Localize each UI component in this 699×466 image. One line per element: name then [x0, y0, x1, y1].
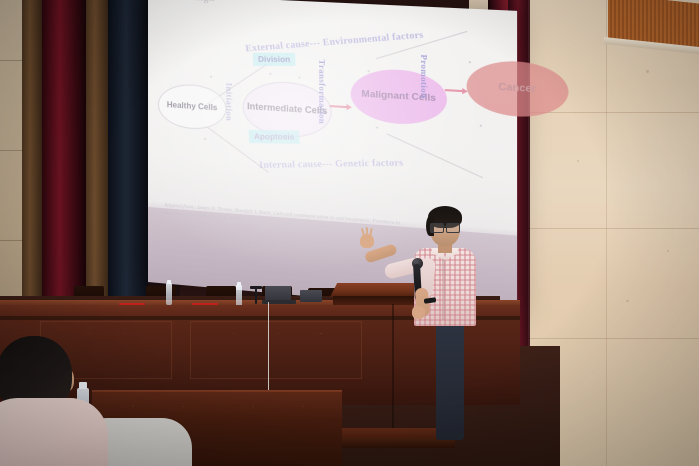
arrow-promotion	[445, 89, 467, 92]
arrow-transformation	[330, 105, 351, 108]
connector-line-br	[387, 133, 484, 178]
transition-transformation-label: Transformation	[317, 59, 327, 124]
internal-cause-label: Internal cause--- Genetic factors	[259, 158, 404, 171]
node-cancer-label: Cancer	[498, 82, 536, 96]
node-healthy-cells: Healthy Cells	[158, 83, 226, 132]
bottle-1	[166, 283, 172, 305]
transition-promotion-label: Promotion	[419, 54, 430, 99]
speaker-hand-gesturing	[360, 234, 374, 248]
speaker-eyeglasses	[430, 223, 459, 231]
slide-title-partial: Malign	[182, 0, 215, 4]
speaker-legs	[436, 322, 464, 440]
audience-member-1-body	[0, 398, 108, 466]
slide-citation: Adapted from: James E. Trosko, Randall J…	[164, 201, 423, 238]
node-healthy-cells-label: Healthy Cells	[167, 101, 218, 113]
podium-edge-highlight	[392, 304, 394, 432]
tag-apoptosis: Apoptosis	[249, 130, 300, 144]
microphone-stand	[255, 288, 257, 304]
node-intermediate-cells-label: Intermediate Cells	[247, 102, 327, 117]
speaker-hand-holding-mic	[412, 306, 425, 319]
bench-diamond-pattern-2	[228, 406, 328, 437]
microphone-head	[250, 286, 262, 289]
transition-initiation-label: Initiation	[224, 82, 234, 121]
bottle-2	[236, 285, 242, 307]
lecture-hall-photo: Malign External cause--- Environmental f…	[0, 0, 699, 466]
speaker-shirt-placket	[442, 258, 445, 320]
tag-division: Division	[253, 53, 296, 66]
eyeglass-lens-left	[430, 223, 444, 233]
eyeglass-lens-right	[446, 223, 460, 233]
laptop-secondary	[300, 290, 322, 302]
node-malignant-cells: Malignant Cells	[351, 67, 447, 127]
